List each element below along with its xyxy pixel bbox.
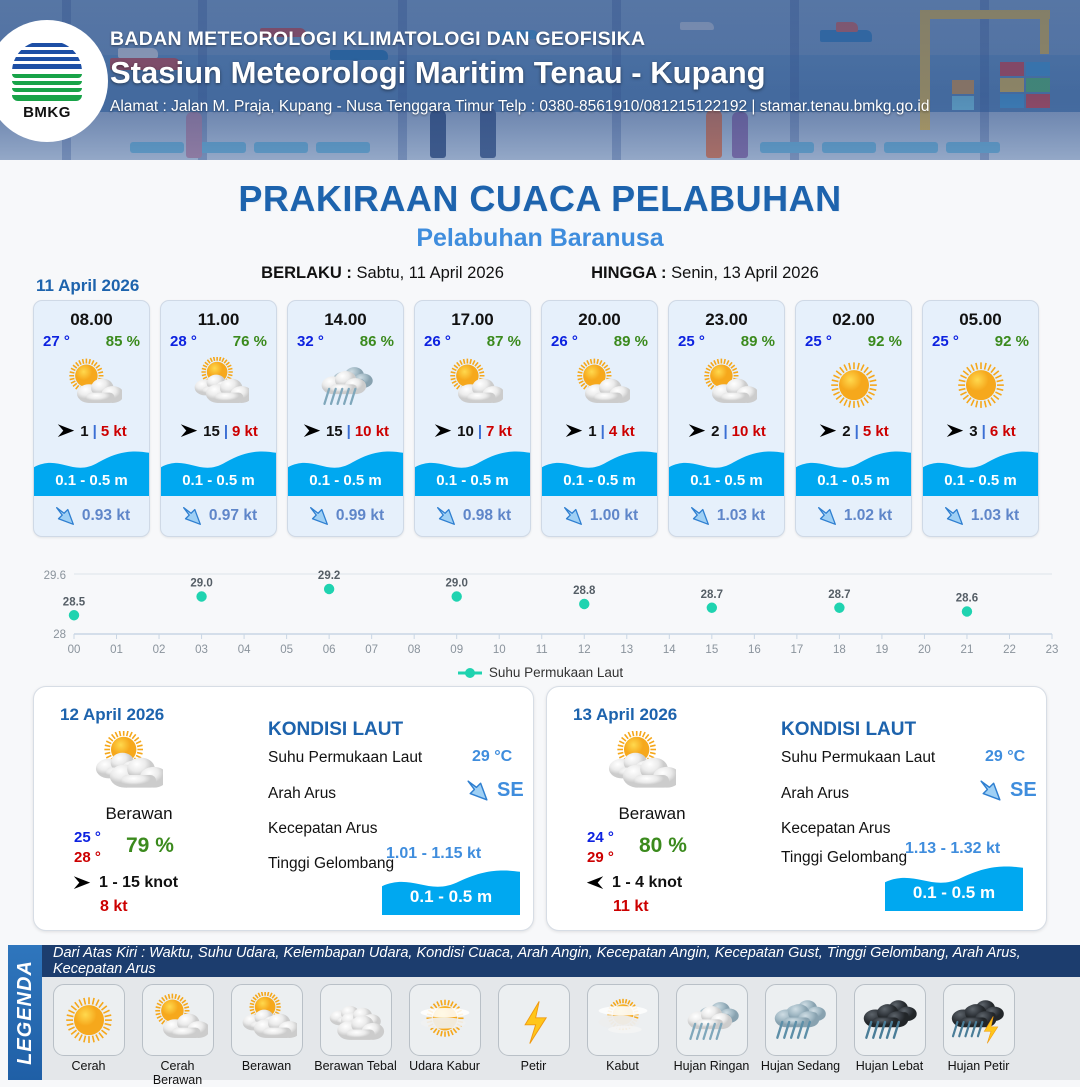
valid-until-value: Senin, 13 April 2026 bbox=[671, 264, 819, 282]
day-condition: Berawan bbox=[547, 804, 757, 824]
separator: | bbox=[347, 423, 351, 440]
current-direction-icon bbox=[942, 504, 966, 528]
current-speed-label: Kecepatan Arus bbox=[268, 820, 377, 838]
wind-direction-icon bbox=[945, 422, 965, 439]
svg-text:28.7: 28.7 bbox=[701, 589, 723, 601]
card-wind-direction: 1 bbox=[588, 423, 596, 440]
separator: | bbox=[601, 423, 605, 440]
card-temperature: 25 ° bbox=[678, 333, 705, 350]
card-temperature: 27 ° bbox=[43, 333, 70, 350]
card-humidity: 76 % bbox=[233, 333, 267, 350]
card-current: 0.97 kt bbox=[161, 496, 276, 536]
svg-text:28.7: 28.7 bbox=[828, 589, 850, 601]
current-direction-icon bbox=[561, 504, 585, 528]
legend-item: Berawan Tebal bbox=[313, 984, 398, 1087]
wave-height-label: Tinggi Gelombang bbox=[268, 855, 394, 873]
day-temp-min: 25 ° bbox=[74, 829, 101, 846]
legend-item: Kabut bbox=[580, 984, 665, 1087]
weather-icon-cerah-berawan bbox=[148, 992, 208, 1048]
current-speed-value: 1.13 - 1.32 kt bbox=[905, 840, 1000, 858]
svg-text:09: 09 bbox=[450, 644, 463, 656]
svg-text:21: 21 bbox=[961, 644, 974, 656]
forecast-card: 20.00 26 ° 89 % 1 | bbox=[541, 300, 658, 537]
hourly-forecast-row: 08.00 27 ° 85 % 1 | bbox=[33, 300, 1047, 537]
card-wind-direction: 3 bbox=[969, 423, 977, 440]
svg-text:05: 05 bbox=[280, 644, 293, 656]
day-wind: 1 - 4 knot bbox=[585, 874, 682, 892]
weather-icon-hujan-lebat bbox=[860, 992, 920, 1048]
legend-icon-box bbox=[765, 984, 837, 1056]
svg-text:28: 28 bbox=[53, 629, 66, 641]
forecast-card: 11.00 28 ° 76 % bbox=[160, 300, 277, 537]
legend-item-label: Hujan Sedang bbox=[761, 1059, 840, 1073]
separator: | bbox=[478, 423, 482, 440]
legend-item-label: Udara Kabur bbox=[409, 1059, 480, 1073]
forecast-card: 14.00 32 ° 86 % bbox=[287, 300, 404, 537]
current-direction-value-group: SE bbox=[464, 777, 524, 804]
svg-text:04: 04 bbox=[238, 644, 251, 656]
weather-icon-cerah bbox=[951, 357, 1011, 413]
legend-item-label: Berawan Tebal bbox=[314, 1059, 396, 1073]
current-direction-value: SE bbox=[497, 779, 524, 802]
day-temp-max: 29 ° bbox=[587, 849, 614, 866]
card-time: 02.00 bbox=[796, 301, 911, 330]
svg-text:08: 08 bbox=[408, 644, 421, 656]
page-header: BMKG BADAN METEOROLOGI KLIMATOLOGI DAN G… bbox=[0, 0, 1080, 160]
card-current-speed: 0.93 kt bbox=[82, 507, 130, 525]
svg-text:28.6: 28.6 bbox=[956, 593, 978, 605]
current-direction-icon bbox=[434, 504, 458, 528]
sun-icon bbox=[958, 362, 1004, 408]
svg-text:23: 23 bbox=[1046, 644, 1058, 656]
forecast-card: 23.00 25 ° 89 % 2 | bbox=[668, 300, 785, 537]
day-wind-value: 1 - 15 knot bbox=[99, 874, 178, 892]
daily-forecast-panel: 12 April 2026 Berawan 25 ° 28 ° 79 % bbox=[33, 686, 534, 931]
card-time: 11.00 bbox=[161, 301, 276, 330]
card-current-speed: 0.99 kt bbox=[336, 507, 384, 525]
legend-icon-box bbox=[142, 984, 214, 1056]
svg-text:00: 00 bbox=[68, 644, 81, 656]
svg-text:11: 11 bbox=[536, 644, 548, 656]
svg-text:18: 18 bbox=[833, 644, 846, 656]
card-time: 08.00 bbox=[34, 301, 149, 330]
card-time: 05.00 bbox=[923, 301, 1038, 330]
separator: | bbox=[93, 423, 97, 440]
day-wave-graphic: 0.1 - 0.5 m bbox=[382, 867, 520, 915]
card-wind: 3 | 6 kt bbox=[923, 416, 1038, 446]
svg-text:28.8: 28.8 bbox=[573, 585, 596, 597]
current-direction-icon bbox=[53, 504, 77, 528]
current-direction-icon bbox=[464, 777, 491, 804]
card-time: 20.00 bbox=[542, 301, 657, 330]
weather-icon-udara-kabur bbox=[415, 992, 475, 1048]
legend-item-label: Cerah bbox=[71, 1059, 105, 1073]
wind-direction-icon bbox=[687, 422, 707, 439]
wind-direction-icon bbox=[179, 422, 199, 439]
card-wave: 0.1 - 0.5 m bbox=[796, 448, 911, 496]
card-current-speed: 0.98 kt bbox=[463, 507, 511, 525]
day-wave-value: 0.1 - 0.5 m bbox=[885, 883, 1023, 903]
card-humidity: 92 % bbox=[995, 333, 1029, 350]
current-speed-label: Kecepatan Arus bbox=[781, 820, 890, 838]
day-humidity: 80 % bbox=[639, 834, 687, 858]
card-wave: 0.1 - 0.5 m bbox=[34, 448, 149, 496]
forecast-card: 17.00 26 ° 87 % 10 | bbox=[414, 300, 531, 537]
day-wind-value: 1 - 4 knot bbox=[612, 874, 682, 892]
svg-text:14: 14 bbox=[663, 644, 676, 656]
wind-direction-icon bbox=[564, 422, 584, 439]
card-wave-height: 0.1 - 0.5 m bbox=[542, 472, 657, 489]
valid-until-label: HINGGA : bbox=[591, 264, 666, 282]
weather-icon-berawan bbox=[189, 357, 249, 413]
agency-name: BADAN METEOROLOGI KLIMATOLOGI DAN GEOFIS… bbox=[110, 28, 929, 51]
card-temperature: 26 ° bbox=[551, 333, 578, 350]
day-gust: 11 kt bbox=[613, 898, 649, 916]
weather-icon-hujan-ringan bbox=[316, 357, 376, 413]
page-title: PRAKIRAAN CUACA PELABUHAN bbox=[0, 178, 1080, 220]
wind-direction-icon bbox=[302, 422, 322, 439]
separator: | bbox=[982, 423, 986, 440]
chart-legend: Suhu Permukaan Laut bbox=[0, 665, 1080, 680]
day-wave-value: 0.1 - 0.5 m bbox=[382, 887, 520, 907]
day-wind: 1 - 15 knot bbox=[72, 874, 178, 892]
svg-text:20: 20 bbox=[918, 644, 931, 656]
svg-text:06: 06 bbox=[323, 644, 336, 656]
card-temperature: 32 ° bbox=[297, 333, 324, 350]
weather-icon-cerah-berawan bbox=[697, 357, 757, 413]
logo-text: BMKG bbox=[23, 104, 71, 121]
current-direction-label: Arah Arus bbox=[781, 785, 849, 803]
card-wind: 15 | 10 kt bbox=[288, 416, 403, 446]
weather-icon-cerah-berawan bbox=[62, 357, 122, 413]
card-current-speed: 1.02 kt bbox=[844, 507, 892, 525]
legend-icon-box bbox=[854, 984, 926, 1056]
separator: | bbox=[224, 423, 228, 440]
legend-section: LEGENDA Dari Atas Kiri : Waktu, Suhu Uda… bbox=[0, 945, 1080, 1080]
legend-item: Udara Kabur bbox=[402, 984, 487, 1087]
svg-text:29.0: 29.0 bbox=[446, 578, 468, 590]
wind-direction-icon bbox=[72, 874, 92, 891]
legend-side-text: LEGENDA bbox=[14, 960, 37, 1065]
card-wind: 1 | 5 kt bbox=[34, 416, 149, 446]
card-current: 1.02 kt bbox=[796, 496, 911, 536]
card-wind: 1 | 4 kt bbox=[542, 416, 657, 446]
card-wave: 0.1 - 0.5 m bbox=[923, 448, 1038, 496]
day-date: 13 April 2026 bbox=[573, 705, 677, 725]
svg-text:19: 19 bbox=[876, 644, 889, 656]
card-weather-icon bbox=[161, 354, 276, 416]
card-weather-icon bbox=[796, 354, 911, 416]
card-temperature: 25 ° bbox=[805, 333, 832, 350]
card-current: 0.93 kt bbox=[34, 496, 149, 536]
legend-icon-box bbox=[53, 984, 125, 1056]
daily-forecast-panel: 13 April 2026 Berawan 24 ° 29 ° 80 % bbox=[546, 686, 1047, 931]
station-address: Alamat : Jalan M. Praja, Kupang - Nusa T… bbox=[110, 98, 929, 116]
separator: | bbox=[723, 423, 727, 440]
card-wind-speed: 10 kt bbox=[732, 423, 766, 440]
current-direction-icon bbox=[307, 504, 331, 528]
sst-chart: 29.6280001020304050607080910111213141516… bbox=[22, 562, 1058, 667]
card-weather-icon bbox=[34, 354, 149, 416]
card-wave: 0.1 - 0.5 m bbox=[288, 448, 403, 496]
card-wind-speed: 6 kt bbox=[990, 423, 1016, 440]
card-wave: 0.1 - 0.5 m bbox=[415, 448, 530, 496]
card-time: 17.00 bbox=[415, 301, 530, 330]
svg-text:12: 12 bbox=[578, 644, 591, 656]
legend-item-label: Kabut bbox=[606, 1059, 639, 1073]
svg-text:29.0: 29.0 bbox=[190, 578, 212, 590]
legend-item-label: Hujan Petir bbox=[948, 1059, 1010, 1073]
legend-icon-box bbox=[498, 984, 570, 1056]
weather-icon-cerah-berawan bbox=[443, 357, 503, 413]
sst-label: Suhu Permukaan Laut bbox=[781, 749, 935, 767]
card-current: 0.98 kt bbox=[415, 496, 530, 536]
current-speed-value: 1.01 - 1.15 kt bbox=[386, 845, 481, 863]
legend-item: Hujan Ringan bbox=[669, 984, 754, 1087]
card-wave-height: 0.1 - 0.5 m bbox=[161, 472, 276, 489]
card-wave-height: 0.1 - 0.5 m bbox=[288, 472, 403, 489]
valid-from-label: BERLAKU : bbox=[261, 264, 352, 282]
wind-direction-icon bbox=[56, 422, 76, 439]
svg-text:29.6: 29.6 bbox=[44, 570, 66, 582]
legend-item: Hujan Lebat bbox=[847, 984, 932, 1087]
svg-text:15: 15 bbox=[705, 644, 718, 656]
forecast-infographic: BMKG BADAN METEOROLOGI KLIMATOLOGI DAN G… bbox=[0, 0, 1080, 1080]
current-direction-value: SE bbox=[1010, 779, 1037, 802]
card-current-speed: 0.97 kt bbox=[209, 507, 257, 525]
legend-item-label: Cerah Berawan bbox=[135, 1059, 220, 1087]
card-wind-speed: 7 kt bbox=[486, 423, 512, 440]
day-weather-icon bbox=[602, 731, 676, 804]
current-direction-icon bbox=[180, 504, 204, 528]
weather-icon-berawan bbox=[237, 992, 297, 1048]
station-name: Stasiun Meteorologi Maritim Tenau - Kupa… bbox=[110, 55, 929, 91]
weather-icon-hujan-sedang bbox=[771, 992, 831, 1048]
day-date: 12 April 2026 bbox=[60, 705, 164, 725]
sea-conditions-title: KONDISI LAUT bbox=[268, 719, 403, 741]
svg-text:07: 07 bbox=[365, 644, 378, 656]
legend-item-label: Petir bbox=[521, 1059, 547, 1073]
forecast-card: 05.00 25 ° 92 % 3 | 6 kt bbox=[922, 300, 1039, 537]
legend-icon-box bbox=[231, 984, 303, 1056]
card-current: 1.03 kt bbox=[669, 496, 784, 536]
weather-icon-kabut bbox=[593, 992, 653, 1048]
legend-icon-box bbox=[943, 984, 1015, 1056]
legend-icon-box bbox=[676, 984, 748, 1056]
svg-text:17: 17 bbox=[790, 644, 803, 656]
legend-icon-box bbox=[409, 984, 481, 1056]
card-wave-height: 0.1 - 0.5 m bbox=[415, 472, 530, 489]
daily-forecast-row: 12 April 2026 Berawan 25 ° 28 ° 79 % bbox=[33, 686, 1047, 931]
day-wave-graphic: 0.1 - 0.5 m bbox=[885, 863, 1023, 911]
logo-bars-green bbox=[12, 74, 82, 103]
svg-text:16: 16 bbox=[748, 644, 761, 656]
card-wave: 0.1 - 0.5 m bbox=[669, 448, 784, 496]
card-wind: 15 | 9 kt bbox=[161, 416, 276, 446]
sst-label: Suhu Permukaan Laut bbox=[268, 749, 422, 767]
logo-arcs-blue bbox=[12, 41, 82, 72]
svg-text:29.2: 29.2 bbox=[318, 570, 340, 582]
card-humidity: 85 % bbox=[106, 333, 140, 350]
card-weather-icon bbox=[669, 354, 784, 416]
card-current-speed: 1.03 kt bbox=[971, 507, 1019, 525]
sst-value: 29 °C bbox=[472, 748, 512, 766]
weather-icon-petir bbox=[504, 992, 564, 1048]
card-wind-direction: 15 bbox=[203, 423, 220, 440]
card-temperature: 25 ° bbox=[932, 333, 959, 350]
card-temperature: 26 ° bbox=[424, 333, 451, 350]
legend-item: Berawan bbox=[224, 984, 309, 1087]
card-weather-icon bbox=[542, 354, 657, 416]
svg-text:10: 10 bbox=[493, 644, 506, 656]
card-wave-height: 0.1 - 0.5 m bbox=[796, 472, 911, 489]
legend-marker-icon bbox=[457, 667, 483, 679]
weather-icon-cerah bbox=[59, 992, 119, 1048]
card-current: 1.00 kt bbox=[542, 496, 657, 536]
weather-icon-berawan-tebal bbox=[326, 992, 386, 1048]
day-temp-min: 24 ° bbox=[587, 829, 614, 846]
card-wave-height: 0.1 - 0.5 m bbox=[923, 472, 1038, 489]
card-wind-direction: 2 bbox=[711, 423, 719, 440]
wind-direction-icon bbox=[585, 874, 605, 891]
card-wave: 0.1 - 0.5 m bbox=[161, 448, 276, 496]
current-direction-value-group: SE bbox=[977, 777, 1037, 804]
card-wave-height: 0.1 - 0.5 m bbox=[669, 472, 784, 489]
valid-from-value: Sabtu, 11 April 2026 bbox=[357, 264, 504, 282]
card-wind-speed: 5 kt bbox=[863, 423, 889, 440]
wind-direction-icon bbox=[433, 422, 453, 439]
svg-text:28.5: 28.5 bbox=[63, 596, 86, 608]
day-weather-icon bbox=[89, 731, 163, 804]
card-wind-direction: 10 bbox=[457, 423, 474, 440]
forecast-card: 02.00 25 ° 92 % 2 | 5 kt bbox=[795, 300, 912, 537]
weather-icon-berawan bbox=[602, 731, 676, 799]
weather-icon-hujan-ringan bbox=[682, 992, 742, 1048]
day-condition: Berawan bbox=[34, 804, 244, 824]
sun-icon bbox=[831, 362, 877, 408]
card-wind: 2 | 10 kt bbox=[669, 416, 784, 446]
page-subtitle: Pelabuhan Baranusa bbox=[0, 224, 1080, 253]
legend-item: Cerah Berawan bbox=[135, 984, 220, 1087]
legend-note: Dari Atas Kiri : Waktu, Suhu Udara, Kele… bbox=[42, 945, 1080, 977]
card-current: 0.99 kt bbox=[288, 496, 403, 536]
svg-text:01: 01 bbox=[110, 644, 123, 656]
legend-item-label: Hujan Ringan bbox=[674, 1059, 750, 1073]
legend-item: Hujan Sedang bbox=[758, 984, 843, 1087]
svg-text:22: 22 bbox=[1003, 644, 1016, 656]
card-humidity: 89 % bbox=[741, 333, 775, 350]
header-text-block: BADAN METEOROLOGI KLIMATOLOGI DAN GEOFIS… bbox=[110, 28, 929, 116]
forecast-card: 08.00 27 ° 85 % 1 | bbox=[33, 300, 150, 537]
card-weather-icon bbox=[923, 354, 1038, 416]
svg-text:13: 13 bbox=[620, 644, 633, 656]
day-temp-max: 28 ° bbox=[74, 849, 101, 866]
card-current: 1.03 kt bbox=[923, 496, 1038, 536]
card-time: 14.00 bbox=[288, 301, 403, 330]
card-humidity: 89 % bbox=[614, 333, 648, 350]
chart-series-name: Suhu Permukaan Laut bbox=[489, 665, 623, 680]
legend-side-label: LEGENDA bbox=[8, 945, 42, 1080]
current-direction-icon bbox=[815, 504, 839, 528]
legend-body: Dari Atas Kiri : Waktu, Suhu Udara, Kele… bbox=[42, 945, 1080, 1080]
card-wind-speed: 9 kt bbox=[232, 423, 258, 440]
card-humidity: 92 % bbox=[868, 333, 902, 350]
day-humidity: 79 % bbox=[126, 834, 174, 858]
legend-icon-box bbox=[587, 984, 659, 1056]
card-wind: 2 | 5 kt bbox=[796, 416, 911, 446]
legend-icon-box bbox=[320, 984, 392, 1056]
sst-value: 29 °C bbox=[985, 748, 1025, 766]
weather-icon-cerah-berawan bbox=[570, 357, 630, 413]
validity-line: BERLAKU : Sabtu, 11 April 2026 HINGGA : … bbox=[0, 264, 1080, 283]
legend-item-list: Cerah Cerah Berawan bbox=[42, 977, 1080, 1087]
card-weather-icon bbox=[288, 354, 403, 416]
bmkg-logo-mark bbox=[12, 41, 82, 103]
card-humidity: 86 % bbox=[360, 333, 394, 350]
card-wind-direction: 15 bbox=[326, 423, 343, 440]
card-current-speed: 1.03 kt bbox=[717, 507, 765, 525]
card-current-speed: 1.00 kt bbox=[590, 507, 638, 525]
card-wind-speed: 10 kt bbox=[355, 423, 389, 440]
card-wind: 10 | 7 kt bbox=[415, 416, 530, 446]
day-gust: 8 kt bbox=[100, 898, 128, 916]
card-wave: 0.1 - 0.5 m bbox=[542, 448, 657, 496]
current-direction-icon bbox=[977, 777, 1004, 804]
current-direction-icon bbox=[688, 504, 712, 528]
sun-icon bbox=[66, 997, 112, 1043]
svg-text:03: 03 bbox=[195, 644, 208, 656]
current-direction-label: Arah Arus bbox=[268, 785, 336, 803]
card-wind-speed: 4 kt bbox=[609, 423, 635, 440]
card-time: 23.00 bbox=[669, 301, 784, 330]
card-wave-height: 0.1 - 0.5 m bbox=[34, 472, 149, 489]
svg-text:02: 02 bbox=[153, 644, 166, 656]
legend-note-bar: Dari Atas Kiri : Waktu, Suhu Udara, Kele… bbox=[42, 945, 1080, 977]
forecast-date-label: 11 April 2026 bbox=[36, 276, 139, 296]
weather-icon-berawan bbox=[89, 731, 163, 799]
legend-item-label: Berawan bbox=[242, 1059, 291, 1073]
card-wind-speed: 5 kt bbox=[101, 423, 127, 440]
card-wind-direction: 2 bbox=[842, 423, 850, 440]
card-temperature: 28 ° bbox=[170, 333, 197, 350]
wind-direction-icon bbox=[818, 422, 838, 439]
sea-conditions-title: KONDISI LAUT bbox=[781, 719, 916, 741]
legend-item: Petir bbox=[491, 984, 576, 1087]
card-humidity: 87 % bbox=[487, 333, 521, 350]
card-weather-icon bbox=[415, 354, 530, 416]
separator: | bbox=[855, 423, 859, 440]
card-wind-direction: 1 bbox=[80, 423, 88, 440]
weather-icon-hujan-petir bbox=[949, 992, 1009, 1048]
legend-item-label: Hujan Lebat bbox=[856, 1059, 923, 1073]
legend-item: Hujan Petir bbox=[936, 984, 1021, 1087]
legend-item: Cerah bbox=[46, 984, 131, 1087]
weather-icon-cerah bbox=[824, 357, 884, 413]
